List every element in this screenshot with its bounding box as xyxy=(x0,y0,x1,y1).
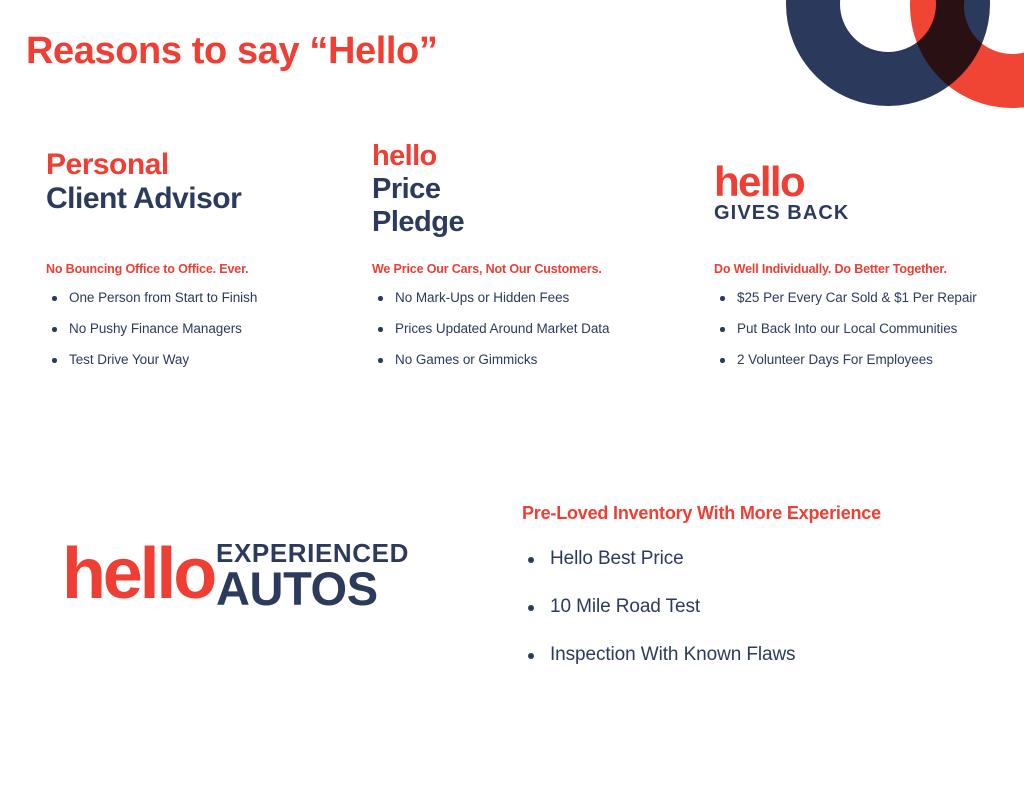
list-item: 10 Mile Road Test xyxy=(522,596,1002,618)
list-item-label: Hello Best Price xyxy=(550,548,684,569)
column-heading-line: GIVES BACK xyxy=(714,202,1014,224)
bullet-dot-icon xyxy=(378,296,383,301)
column-heading: hello Price Pledge xyxy=(372,140,672,239)
decorative-rings xyxy=(764,0,1024,130)
list-item: One Person from Start to Finish xyxy=(46,290,346,305)
list-item: Inspection With Known Flaws xyxy=(522,644,1002,666)
list-item-label: Test Drive Your Way xyxy=(69,352,189,367)
list-item: 2 Volunteer Days For Employees xyxy=(714,352,1014,367)
slide-canvas: Reasons to say “Hello” Personal Client A… xyxy=(0,0,1024,804)
column-bullet-list: $25 Per Every Car Sold & $1 Per Repair P… xyxy=(714,290,1014,383)
column-heading: hello GIVES BACK xyxy=(714,162,1014,224)
list-item-label: $25 Per Every Car Sold & $1 Per Repair xyxy=(737,290,977,305)
column-bullet-list: One Person from Start to Finish No Pushy… xyxy=(46,290,346,383)
list-item-label: No Pushy Finance Managers xyxy=(69,321,242,336)
list-item-label: Prices Updated Around Market Data xyxy=(395,321,609,336)
column-subheading: No Bouncing Office to Office. Ever. xyxy=(46,262,248,276)
column-subheading: We Price Our Cars, Not Our Customers. xyxy=(372,262,602,276)
feature-columns: Personal Client Advisor No Bouncing Offi… xyxy=(0,140,1024,400)
list-item-label: Inspection With Known Flaws xyxy=(550,644,795,665)
navy-ring-icon xyxy=(786,0,990,106)
bullet-dot-icon xyxy=(528,653,534,659)
bullet-dot-icon xyxy=(52,296,57,301)
red-ring-icon xyxy=(910,0,1024,108)
list-item: No Mark-Ups or Hidden Fees xyxy=(372,290,672,305)
list-item: $25 Per Every Car Sold & $1 Per Repair xyxy=(714,290,1014,305)
list-item-label: No Games or Gimmicks xyxy=(395,352,537,367)
list-item-label: No Mark-Ups or Hidden Fees xyxy=(395,290,569,305)
bullet-dot-icon xyxy=(52,327,57,332)
bullet-dot-icon xyxy=(378,327,383,332)
list-item: No Games or Gimmicks xyxy=(372,352,672,367)
column-heading-line: Price xyxy=(372,173,672,206)
hello-experienced-autos-logo: hello EXPERIENCED AUTOS xyxy=(62,538,409,611)
list-item: Put Back Into our Local Communities xyxy=(714,321,1014,336)
list-item: Test Drive Your Way xyxy=(46,352,346,367)
page-title: Reasons to say “Hello” xyxy=(26,30,437,73)
list-item-label: One Person from Start to Finish xyxy=(69,290,257,305)
hello-wordmark: hello xyxy=(372,140,672,173)
list-item-label: 10 Mile Road Test xyxy=(550,596,700,617)
list-item-label: Put Back Into our Local Communities xyxy=(737,321,957,336)
bullet-dot-icon xyxy=(720,327,725,332)
list-item: Prices Updated Around Market Data xyxy=(372,321,672,336)
list-item: No Pushy Finance Managers xyxy=(46,321,346,336)
bullet-dot-icon xyxy=(52,358,57,363)
bullet-dot-icon xyxy=(528,605,534,611)
bullet-dot-icon xyxy=(720,296,725,301)
autos-label: AUTOS xyxy=(216,567,409,611)
column-subheading: Do Well Individually. Do Better Together… xyxy=(714,262,947,276)
hello-wordmark: hello xyxy=(62,542,214,607)
bottom-bullet-list: Hello Best Price 10 Mile Road Test Inspe… xyxy=(522,548,1002,692)
bullet-dot-icon xyxy=(378,358,383,363)
column-bullet-list: No Mark-Ups or Hidden Fees Prices Update… xyxy=(372,290,672,383)
experienced-autos-stack: EXPERIENCED AUTOS xyxy=(216,540,409,611)
list-item-label: 2 Volunteer Days For Employees xyxy=(737,352,933,367)
bullet-dot-icon xyxy=(528,557,534,563)
hello-wordmark: hello xyxy=(714,162,1014,202)
column-heading-line: Personal xyxy=(46,148,346,182)
list-item: Hello Best Price xyxy=(522,548,1002,570)
column-heading-line: Pledge xyxy=(372,206,672,239)
column-heading: Personal Client Advisor xyxy=(46,148,346,216)
bottom-subheading: Pre-Loved Inventory With More Experience xyxy=(522,503,881,524)
bullet-dot-icon xyxy=(720,358,725,363)
column-heading-line: Client Advisor xyxy=(46,182,346,216)
